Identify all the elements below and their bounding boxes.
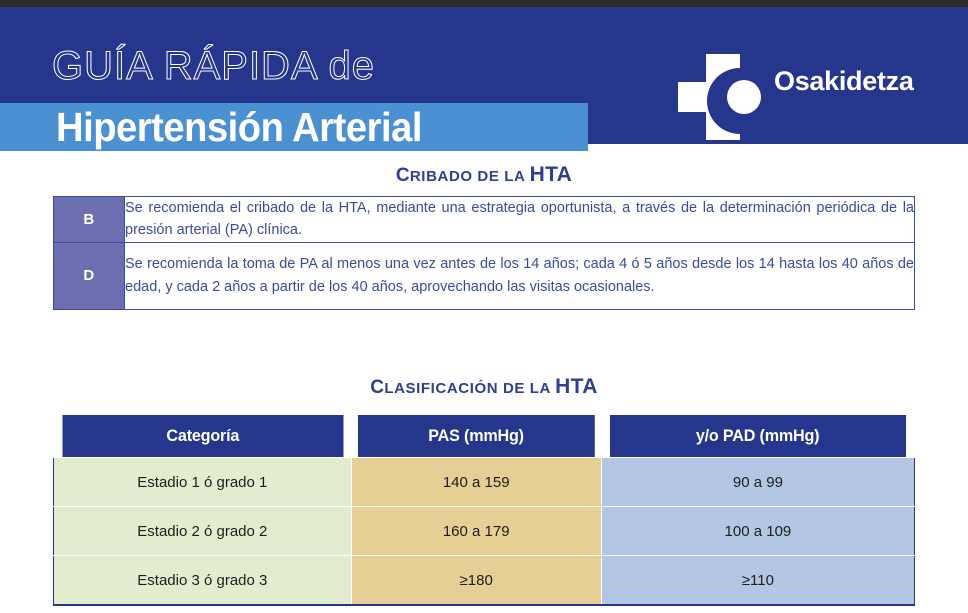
- table-row: Estadio 2 ó grado 2 160 a 179 100 a 109: [54, 507, 915, 556]
- table-row: B Se recomienda el cribado de la HTA, me…: [54, 197, 915, 243]
- cell-pas: ≥180: [351, 556, 601, 606]
- column-header-categoria: Categoría: [61, 415, 344, 458]
- heading-acronym: HTA: [530, 163, 573, 186]
- header-banner: GUÍA RÁPIDA de Hipertensión Arterial Osa…: [0, 7, 968, 144]
- heading-acronym: HTA: [555, 375, 598, 398]
- column-header-pas: PAS (mmHg): [357, 415, 595, 458]
- table-header-row: Categoría PAS (mmHg) y/o PAD (mmHg): [54, 415, 915, 458]
- recommendation-text: Se recomienda el cribado de la HTA, medi…: [125, 197, 915, 243]
- cell-pad: 90 a 99: [601, 458, 914, 507]
- cell-pas: 140 a 159: [351, 458, 601, 507]
- section-heading-clasificacion: CLASIFICACIÓN DE LA HTA: [0, 375, 968, 399]
- guide-kicker-title: GUÍA RÁPIDA de: [52, 46, 375, 86]
- heading-body: LASIFICACIÓN DE LA: [384, 380, 555, 397]
- table-row: Estadio 3 ó grado 3 ≥180 ≥110: [54, 556, 915, 606]
- cell-categoria: Estadio 2 ó grado 2: [54, 507, 352, 556]
- osakidetza-cross-icon: [678, 54, 766, 140]
- cell-categoria: Estadio 1 ó grado 1: [54, 458, 352, 507]
- section-heading-cribado: CRIBADO DE LA HTA: [0, 163, 968, 187]
- osakidetza-logo: Osakidetza: [678, 54, 918, 140]
- heading-body: RIBADO DE LA: [410, 168, 530, 185]
- heading-initial: C: [396, 165, 410, 186]
- cell-categoria: Estadio 3 ó grado 3: [54, 556, 352, 606]
- top-dark-strip: [0, 0, 968, 7]
- heading-initial: C: [370, 377, 384, 398]
- cell-pad: 100 a 109: [601, 507, 914, 556]
- table-row: D Se recomienda la toma de PA al menos u…: [54, 242, 915, 309]
- osakidetza-wordmark: Osakidetza: [774, 66, 914, 97]
- classification-table: Categoría PAS (mmHg) y/o PAD (mmHg) Esta…: [53, 414, 915, 606]
- cell-pad: ≥110: [601, 556, 914, 606]
- recommendation-grade-badge: B: [54, 197, 125, 243]
- recommendations-table: B Se recomienda el cribado de la HTA, me…: [53, 196, 915, 310]
- recommendation-text: Se recomienda la toma de PA al menos una…: [125, 242, 915, 309]
- guide-main-title: Hipertensión Arterial: [56, 106, 422, 149]
- cell-pas: 160 a 179: [351, 507, 601, 556]
- table-row: Estadio 1 ó grado 1 140 a 159 90 a 99: [54, 458, 915, 507]
- column-header-pad: y/o PAD (mmHg): [609, 415, 907, 458]
- recommendation-grade-badge: D: [54, 242, 125, 309]
